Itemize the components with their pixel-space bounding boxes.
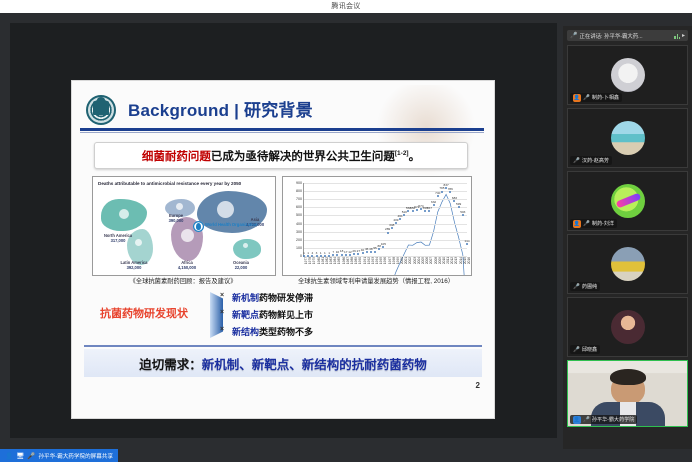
right-figure-caption: 全球抗生素领域专利申请量发展趋势（情报工程, 2016） xyxy=(282,276,470,285)
participant-name: 邱晓鑫 xyxy=(582,346,597,353)
chart-data-label: 1 xyxy=(328,251,330,255)
chart-data-label: 144 xyxy=(464,239,469,243)
chart-x-tick: 1985 xyxy=(337,257,341,264)
chart-data-point xyxy=(370,251,372,253)
chart-data-point xyxy=(341,254,343,256)
chart-data-label: 55 xyxy=(373,246,376,250)
chart-gridline xyxy=(304,199,467,200)
avatar xyxy=(611,121,645,155)
mic-muted-icon: 🎤 xyxy=(573,347,580,353)
chart-data-label: 510 xyxy=(402,210,407,214)
chart-data-label: 683 xyxy=(452,196,457,200)
chart-data-label: 461 xyxy=(398,214,403,218)
statement-callout: 细菌耐药问题已成为亟待解决的世界公共卫生问题[1-2]。 xyxy=(94,142,468,169)
chart-x-tick: 1997 xyxy=(388,257,392,264)
chart-x-tick: 1980 xyxy=(317,257,321,264)
conclusion-banner: 迫切需求：新机制、新靶点、新结构的抗耐药菌药物 xyxy=(84,349,482,377)
participant-tile[interactable]: 👤 🎤 制药-卜相鑫 xyxy=(567,45,688,105)
chart-data-label: 632 xyxy=(431,200,436,204)
chart-y-tick: 500 xyxy=(296,213,302,217)
mic-muted-icon: 🎤 xyxy=(573,158,580,164)
map-region-oceania xyxy=(233,239,261,259)
participant-name: 药圃纯 xyxy=(582,283,597,290)
chart-data-label: 26 xyxy=(352,249,355,253)
who-label: World Health Organization xyxy=(205,223,258,228)
banner-rule xyxy=(84,345,482,347)
chart-data-label: 7 xyxy=(332,250,334,254)
chart-data-label: 40 xyxy=(361,248,364,252)
chart-data-point xyxy=(387,232,389,234)
statement-text: 细菌耐药问题已成为亟待解决的世界公共卫生问题[1-2]。 xyxy=(142,148,420,164)
chart-gridline xyxy=(304,224,467,225)
bullet-item-2: ×新靶点药物鲜见上市 xyxy=(232,308,313,321)
bullet-marker-icon: × xyxy=(220,326,224,333)
world-map-figure: Deaths attributable to antimicrobial res… xyxy=(92,176,276,276)
chart-data-label: 599 xyxy=(456,202,461,206)
chart-data-label: 1 xyxy=(320,251,322,255)
participant-tile[interactable]: 🎤 药圃纯 xyxy=(567,234,688,294)
chart-data-point xyxy=(349,254,351,256)
bullet-marker-icon: × xyxy=(220,292,224,299)
mic-muted-icon: 🎤 xyxy=(583,95,590,101)
chart-y-tick: 200 xyxy=(296,238,302,242)
bullet-marker-icon: × xyxy=(220,309,224,316)
avatar xyxy=(611,310,645,344)
chart-y-tick: 100 xyxy=(296,246,302,250)
line-chart: 0100200300400500600700800900119771197841… xyxy=(283,177,471,275)
participant-tile[interactable]: 🎤 汉药-赵高芳 xyxy=(567,108,688,168)
chart-gridline xyxy=(304,240,467,241)
avatar xyxy=(611,58,645,92)
chart-data-label: 557 xyxy=(427,206,432,210)
slide-page-number: 2 xyxy=(476,381,480,390)
chart-data-label: 409 xyxy=(393,218,398,222)
map-label-latin-america: Latin America 392,000 xyxy=(111,260,157,270)
chart-data-point xyxy=(441,191,443,193)
participant-tile-active-speaker[interactable]: 👤 🎤 孙平华-霸大药学院 xyxy=(567,360,688,427)
chart-data-label: 18 xyxy=(340,249,343,253)
world-map: Deaths attributable to antimicrobial res… xyxy=(93,177,275,275)
chart-data-label: 348 xyxy=(389,223,394,227)
chart-data-label: 795 xyxy=(439,186,444,190)
chart-x-tick: 1986 xyxy=(342,257,346,264)
chart-data-label: 10 xyxy=(336,250,339,254)
active-speaker-banner[interactable]: 🎤 正在讲话: 孙平华-霸大药... ▸ xyxy=(567,30,688,41)
chart-data-point xyxy=(437,195,439,197)
share-status-bar: 👤 🖥 🎤 孙平华-霸大药学院的屏幕共享 xyxy=(0,449,692,462)
participant-name: 制药-卜相鑫 xyxy=(592,94,619,101)
chevron-right-icon[interactable]: ▸ xyxy=(682,32,685,39)
chart-data-point xyxy=(391,227,393,229)
chart-y-tick: 300 xyxy=(296,230,302,234)
mic-muted-icon: 🎤 xyxy=(583,221,590,227)
bullets-label: 抗菌药物研发现状 xyxy=(100,305,188,321)
chart-x-tick: 2013 xyxy=(454,257,458,264)
chart-data-label: 4 xyxy=(311,251,313,255)
mic-icon: 🎤 xyxy=(27,452,35,460)
chart-data-label: 1 xyxy=(303,251,305,255)
chart-gridline xyxy=(304,215,467,216)
chart-y-tick: 400 xyxy=(296,222,302,226)
participant-nameplate: 👤 🎤 制药-卜相鑫 xyxy=(570,93,622,102)
chart-data-label: 1 xyxy=(307,251,309,255)
slide-header-rule xyxy=(80,128,484,131)
bullets-row: 抗菌药物研发现状 ×新机制药物研发停滞 ×新靶点药物鲜见上市 ×新结构类型药物不… xyxy=(92,289,470,341)
map-bubble-europe xyxy=(176,203,183,210)
host-badge-icon: 👤 xyxy=(573,94,581,102)
participant-name: 孙平华-霸大药学院 xyxy=(592,416,634,423)
mic-icon: 🎤 xyxy=(570,32,577,39)
chart-gridline xyxy=(304,248,467,249)
slide-header: Background | 研究背景 xyxy=(84,93,482,127)
mic-unmuted-icon: 🎤 xyxy=(573,284,580,290)
chart-y-tick: 900 xyxy=(296,181,302,185)
window-title: 腾讯会议 xyxy=(0,1,692,11)
chart-data-label: 105 xyxy=(381,242,386,246)
participant-nameplate: 🎤 药圃纯 xyxy=(570,282,600,291)
active-speaker-name: 正在讲话: 孙平华-霸大药... xyxy=(579,32,672,40)
left-figure-caption: 《全球抗菌素耐药回顾：报告及建议》 xyxy=(92,276,274,285)
chart-gridline xyxy=(304,232,467,233)
slide-title-separator: | xyxy=(234,101,239,120)
shared-screen-stage[interactable]: Background | 研究背景 细菌耐药问题已成为亟待解决的世界公共卫生问题… xyxy=(10,23,557,438)
slide-header-rule-thin xyxy=(80,132,484,133)
bullet-item-3: ×新结构类型药物不多 xyxy=(232,325,313,338)
chart-x-tick: 1996 xyxy=(383,257,387,264)
chart-x-tick: 2007 xyxy=(429,257,433,264)
chart-x-tick: 1990 xyxy=(358,257,362,264)
map-label-europe: Europe 390,000 xyxy=(155,213,197,223)
host-badge-icon: 👤 xyxy=(573,416,581,424)
bullet-item-1: ×新机制药物研发停滞 xyxy=(232,291,313,304)
chart-data-label: 786 xyxy=(448,187,453,191)
map-bubble-oceania xyxy=(243,243,248,248)
chart-gridline xyxy=(304,207,467,208)
chart-data-label: 27 xyxy=(357,249,360,253)
participant-tile[interactable]: 👤 🎤 制药-刘洋 xyxy=(567,171,688,231)
participant-name: 制药-刘洋 xyxy=(592,220,614,227)
participant-nameplate: 🎤 邱晓鑫 xyxy=(570,345,600,354)
slide-title-cn: 研究背景 xyxy=(244,101,313,120)
map-label-africa: Africa 4,150,000 xyxy=(166,260,208,270)
statement-rest: 已成为亟待解决的世界公共卫生问题 xyxy=(211,151,395,163)
mic-unmuted-icon: 🎤 xyxy=(583,417,590,423)
line-chart-plot: 0100200300400500600700800900119771197841… xyxy=(303,183,467,257)
share-status-text: 孙平华-霸大药学院的屏幕共享 xyxy=(38,452,113,460)
chart-data-label: 289 xyxy=(385,227,390,231)
slide-title-en: Background xyxy=(128,101,229,120)
map-bubble-asia xyxy=(217,201,234,218)
host-badge-icon: 👤 xyxy=(573,220,581,228)
participant-nameplate: 🎤 汉药-赵高芳 xyxy=(570,156,612,165)
screen-icon: 🖥 xyxy=(16,452,24,460)
chart-y-tick: 600 xyxy=(296,205,302,209)
chart-x-tick: 2016 xyxy=(467,257,471,264)
window-titlebar: 腾讯会议 xyxy=(0,0,692,14)
map-title: Deaths attributable to antimicrobial res… xyxy=(98,181,241,186)
avatar xyxy=(611,184,645,218)
meeting-app-window: 腾讯会议 Background | 研究背景 细菌耐药问题已 xyxy=(0,0,692,462)
conclusion-text: 迫切需求：新机制、新靶点、新结构的抗耐药菌药物 xyxy=(139,354,427,373)
chart-data-label: 3 xyxy=(316,251,318,255)
chart-data-point xyxy=(433,204,435,206)
map-label-north-america: North America 317,000 xyxy=(95,233,141,243)
chart-data-label: 1 xyxy=(324,251,326,255)
university-emblem-icon xyxy=(86,95,116,125)
chart-data-label: 740 xyxy=(435,191,440,195)
statement-period: 。 xyxy=(409,151,421,163)
screen-share-indicator[interactable]: 👤 🖥 🎤 孙平华-霸大药学院的屏幕共享 xyxy=(0,449,118,462)
participant-rail: 🎤 正在讲话: 孙平华-霸大药... ▸ 👤 🎤 制药-卜相鑫 🎤 汉药-赵高芳 xyxy=(563,26,692,462)
chart-data-point xyxy=(345,254,347,256)
presentation-slide: Background | 研究背景 细菌耐药问题已成为亟待解决的世界公共卫生问题… xyxy=(72,81,494,418)
chart-x-tick: 2008 xyxy=(434,257,438,264)
figure-row: Deaths attributable to antimicrobial res… xyxy=(92,176,470,286)
slide-title: Background | 研究背景 xyxy=(128,96,313,121)
map-bubble-north-america xyxy=(119,209,129,219)
participant-nameplate: 👤 🎤 孙平华-霸大药学院 xyxy=(570,415,637,424)
chart-data-label: 503 xyxy=(460,210,465,214)
chart-data-point xyxy=(416,209,418,211)
chart-data-point xyxy=(374,251,376,253)
who-logo-icon xyxy=(193,221,204,232)
statement-reference: [1-2] xyxy=(395,150,409,157)
chart-data-point xyxy=(362,252,364,254)
meeting-area: Background | 研究背景 细菌耐药问题已成为亟待解决的世界公共卫生问题… xyxy=(0,13,692,449)
chart-x-tick: 1991 xyxy=(363,257,367,264)
chart-data-point xyxy=(412,210,414,212)
chart-y-tick: 0 xyxy=(300,254,302,258)
chart-x-tick: 1979 xyxy=(312,257,316,264)
chart-data-label: 48 xyxy=(369,247,372,251)
participant-name: 汉药-赵高芳 xyxy=(582,157,609,164)
participant-tile[interactable]: 🎤 邱晓鑫 xyxy=(567,297,688,357)
chart-y-tick: 700 xyxy=(296,197,302,201)
person-icon: 👤 xyxy=(5,452,13,460)
participant-nameplate: 👤 🎤 制药-刘洋 xyxy=(570,219,617,228)
patent-trend-figure: 0100200300400500600700800900119771197841… xyxy=(282,176,472,276)
chart-data-point xyxy=(395,222,397,224)
chart-data-point xyxy=(466,243,468,245)
statement-highlight: 细菌耐药问题 xyxy=(142,151,211,163)
chart-y-tick: 800 xyxy=(296,189,302,193)
chart-data-label: 46 xyxy=(365,247,368,251)
audio-level-bars xyxy=(674,33,680,39)
avatar xyxy=(611,247,645,281)
map-bubble-africa xyxy=(181,229,194,242)
chart-x-tick: 2002 xyxy=(408,257,412,264)
chart-data-label: 12 xyxy=(348,250,351,254)
chart-data-label: 17 xyxy=(344,250,347,254)
chart-data-point xyxy=(399,218,401,220)
map-label-oceania: Oceania 22,000 xyxy=(221,260,261,270)
